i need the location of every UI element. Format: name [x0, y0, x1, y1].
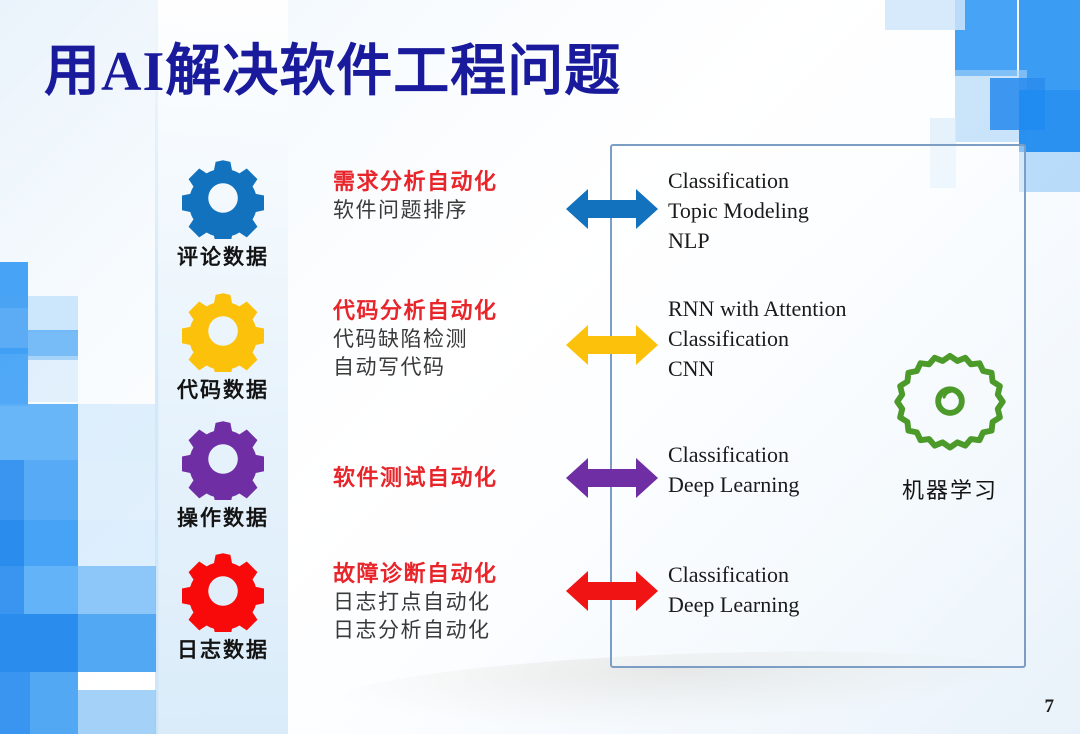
double-arrow-icon — [566, 455, 658, 501]
gear-icon — [175, 418, 271, 500]
bg-square — [0, 672, 30, 734]
task-item-2: 软件测试自动化 — [333, 464, 553, 492]
method-line: NLP — [668, 226, 898, 256]
double-arrow-icon — [566, 322, 658, 368]
bg-square — [0, 262, 28, 308]
data-source-item-0: 评论数据 — [148, 157, 298, 271]
bg-square — [0, 520, 24, 566]
gear-icon — [175, 550, 271, 632]
method-line: Deep Learning — [668, 470, 898, 500]
gear-icon — [175, 290, 271, 372]
bg-square — [885, 0, 965, 30]
bg-square — [955, 70, 1027, 142]
task-detail: 自动写代码 — [333, 353, 553, 381]
double-arrow-icon — [566, 186, 658, 232]
bg-square — [28, 356, 78, 402]
bg-square — [1019, 152, 1080, 192]
bg-square — [78, 460, 156, 520]
bg-square — [0, 566, 24, 614]
task-item-1: 代码分析自动化 代码缺陷检测 自动写代码 — [333, 297, 553, 381]
page-title: 用AI解决软件工程问题 — [44, 26, 621, 107]
task-headline: 代码分析自动化 — [333, 297, 553, 325]
bg-square — [24, 566, 78, 614]
bg-square — [78, 404, 156, 460]
method-line: RNN with Attention — [668, 294, 898, 324]
task-item-0: 需求分析自动化 软件问题排序 — [333, 168, 553, 224]
bg-square — [28, 330, 78, 360]
bg-square — [0, 404, 78, 460]
machine-learning-block: 机器学习 — [880, 348, 1020, 505]
task-detail: 代码缺陷检测 — [333, 325, 553, 353]
gear-icon — [175, 157, 271, 239]
bg-square — [990, 78, 1045, 130]
gear-outline-icon — [891, 348, 1009, 466]
machine-learning-label: 机器学习 — [880, 473, 1020, 505]
data-source-label: 评论数据 — [148, 241, 298, 271]
task-item-3: 故障诊断自动化 日志打点自动化 日志分析自动化 — [333, 560, 553, 644]
bg-square — [30, 672, 78, 734]
method-line: Topic Modeling — [668, 196, 898, 226]
data-source-item-2: 操作数据 — [148, 418, 298, 532]
bg-square — [0, 614, 78, 672]
data-source-label: 操作数据 — [148, 502, 298, 532]
bg-square — [28, 296, 78, 332]
slide-canvas: 用AI解决软件工程问题 评论数据 代码数据 操作数据 日志数据 需求分析自动化 … — [0, 0, 1080, 734]
page-number: 7 — [1045, 696, 1055, 718]
double-arrow-icon — [566, 568, 658, 614]
task-detail: 日志打点自动化 — [333, 588, 553, 616]
method-line: Classification — [668, 440, 898, 470]
bg-square — [24, 460, 78, 520]
method-line: Deep Learning — [668, 590, 898, 620]
method-item-3: Classification Deep Learning — [668, 560, 898, 620]
bg-square — [955, 0, 1017, 76]
data-source-item-3: 日志数据 — [148, 550, 298, 664]
bg-square — [78, 566, 156, 614]
method-line: Classification — [668, 166, 898, 196]
bg-square — [0, 296, 28, 354]
task-headline: 需求分析自动化 — [333, 168, 553, 196]
bg-square — [78, 614, 156, 672]
task-detail: 日志分析自动化 — [333, 616, 553, 644]
bg-square — [24, 520, 78, 566]
data-source-item-1: 代码数据 — [148, 290, 298, 404]
method-item-1: RNN with Attention Classification CNN — [668, 294, 898, 384]
method-line: CNN — [668, 354, 898, 384]
data-source-label: 日志数据 — [148, 634, 298, 664]
bg-square — [0, 348, 28, 406]
bg-square — [0, 460, 24, 520]
bg-square — [1019, 90, 1080, 152]
bg-square — [78, 520, 156, 566]
task-detail: 软件问题排序 — [333, 196, 553, 224]
method-item-0: Classification Topic Modeling NLP — [668, 166, 898, 256]
data-source-label: 代码数据 — [148, 374, 298, 404]
task-headline: 软件测试自动化 — [333, 464, 553, 492]
bg-square — [1019, 0, 1080, 90]
task-headline: 故障诊断自动化 — [333, 560, 553, 588]
bg-square — [78, 690, 156, 734]
method-line: Classification — [668, 324, 898, 354]
method-line: Classification — [668, 560, 898, 590]
method-item-2: Classification Deep Learning — [668, 440, 898, 500]
